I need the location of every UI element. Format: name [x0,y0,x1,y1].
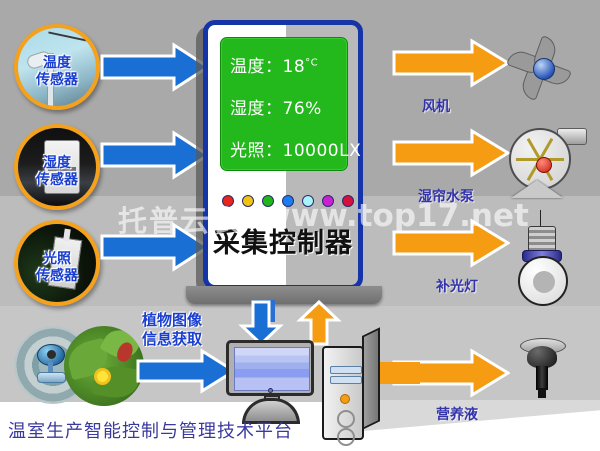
arrow-camera-to-monitor [136,348,236,394]
led-yellow [242,195,254,207]
led-magenta [322,195,334,207]
page-title: 温室生产智能控制与管理技术平台 [8,417,293,443]
arrow-humidity-to-controller [100,130,210,180]
reading-temperature: 温度：18°C [230,52,318,77]
water-pump-icon [505,122,587,198]
led-red [222,195,234,207]
acquisition-controller[interactable]: 温度：18°C 湿度：76% 光照：10000LX 采集控制器 [203,20,363,290]
arrow-controller-to-fan [392,38,510,88]
reading-light: 光照：10000LX [230,136,361,161]
nutrient-emitter-icon [518,338,566,400]
led-green [262,195,274,207]
pc-tower-icon [322,336,382,440]
label-wet-curtain-pump: 湿帘水泵 [418,186,474,206]
arrow-controller-to-fill-light [392,218,510,268]
label-fan: 风机 [422,96,450,116]
led-cyan [302,195,314,207]
led-blue [282,195,294,207]
arrow-light-to-controller [100,222,210,272]
sensor-temperature-label: 温度传感器 [18,55,96,89]
controller-base [186,286,382,304]
label-nutrient-solution: 营养液 [436,404,478,424]
fan-icon [505,30,581,106]
sensor-humidity-label: 湿度传感器 [18,155,96,189]
camera-icon [34,344,68,384]
sensor-temperature[interactable]: 温度传感器 [14,24,100,110]
led-crimson [342,195,354,207]
controller-title: 采集控制器 [208,221,358,260]
diagram-canvas: 温度传感器 湿度传感器 光照传感器 温度：18°C [0,0,600,451]
sensor-light[interactable]: 光照传感器 [14,220,100,306]
controller-led-row [222,195,354,207]
sensor-humidity[interactable]: 湿度传感器 [14,124,100,210]
label-fill-light: 补光灯 [436,276,478,296]
controller-display: 温度：18°C 湿度：76% 光照：10000LX [220,37,348,171]
plant-image-capture-label: 植物图像信息获取 [122,311,222,349]
monitor-icon [226,340,314,412]
sensor-light-label: 光照传感器 [18,251,96,285]
arrow-temperature-to-controller [100,42,210,92]
fill-light-bulb-icon [510,210,572,306]
reading-humidity: 湿度：76% [230,94,322,119]
arrow-controller-to-pump [392,128,510,178]
